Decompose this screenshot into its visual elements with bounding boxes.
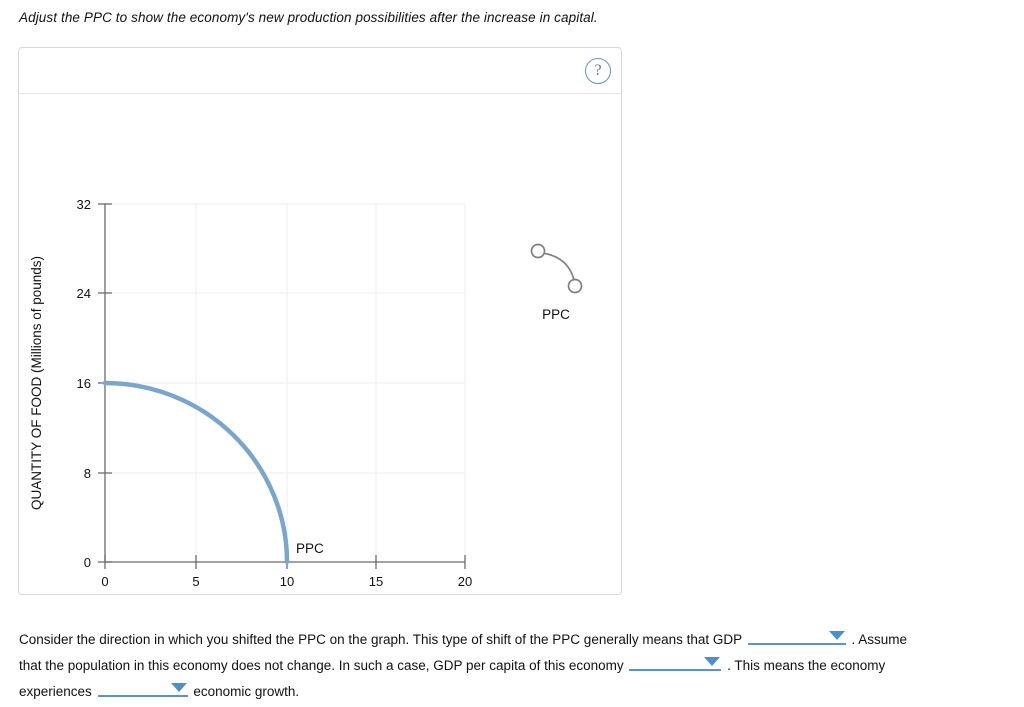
y-tick-label-0: 0 xyxy=(84,555,91,570)
chevron-down-icon xyxy=(171,683,187,692)
help-question-mark-icon[interactable]: ? xyxy=(585,58,611,84)
question-line-1: Consider the direction in which you shif… xyxy=(19,627,1009,653)
x-tick-label-5: 5 xyxy=(192,574,199,589)
ppc-curve-label: PPC xyxy=(296,541,324,556)
gdp-per-capita-dropdown-value xyxy=(629,658,632,673)
gdp-direction-dropdown-value xyxy=(748,632,751,647)
question-block: Consider the direction in which you shif… xyxy=(19,627,1009,705)
question-line-2: that the population in this economy does… xyxy=(19,653,1009,679)
graph-panel: ? xyxy=(18,47,622,595)
question-line-3: experiences economic growth. xyxy=(19,679,1009,705)
ppc-chart[interactable]: 32 24 16 8 0 0 5 10 15 20 QUANTITY OF CO… xyxy=(19,94,621,594)
tool-palette-label: PPC xyxy=(542,307,570,322)
y-tick-label-32: 32 xyxy=(77,197,91,212)
question-line-2-post: . This means the economy xyxy=(727,658,885,673)
y-axis-title: QUANTITY OF FOOD (Millions of pounds) xyxy=(29,256,44,510)
tool-handle-end-circle-icon[interactable] xyxy=(569,280,582,293)
tool-handle-start-circle-icon[interactable] xyxy=(532,245,545,258)
y-tick-label-24: 24 xyxy=(77,286,91,301)
question-line-3-pre: experiences xyxy=(19,684,92,699)
y-tick-label-8: 8 xyxy=(84,466,91,481)
instruction-text: Adjust the PPC to show the economy's new… xyxy=(19,10,598,25)
question-line-1-post: . Assume xyxy=(851,632,907,647)
x-tick-label-20: 20 xyxy=(458,574,472,589)
x-tick-label-15: 15 xyxy=(369,574,383,589)
question-line-1-pre: Consider the direction in which you shif… xyxy=(19,632,742,647)
gridlines-horizontal xyxy=(105,204,465,473)
gdp-direction-dropdown[interactable] xyxy=(748,627,846,645)
chevron-down-icon xyxy=(829,631,845,640)
y-tick-label-16: 16 xyxy=(77,376,91,391)
chevron-down-icon xyxy=(704,657,720,666)
growth-type-dropdown-value xyxy=(98,684,101,699)
tool-curve-path[interactable] xyxy=(542,253,575,284)
question-line-3-post: economic growth. xyxy=(193,684,299,699)
gdp-per-capita-dropdown[interactable] xyxy=(629,653,721,671)
x-tick-label-0: 0 xyxy=(101,574,108,589)
graph-toolbar: ? xyxy=(19,48,621,94)
ppc-curve-tool[interactable]: PPC xyxy=(532,245,582,323)
question-line-2-pre: that the population in this economy does… xyxy=(19,658,624,673)
x-tick-label-10: 10 xyxy=(280,574,294,589)
plot-area[interactable]: 32 24 16 8 0 0 5 10 15 20 QUANTITY OF CO… xyxy=(19,94,621,594)
growth-type-dropdown[interactable] xyxy=(98,679,188,697)
